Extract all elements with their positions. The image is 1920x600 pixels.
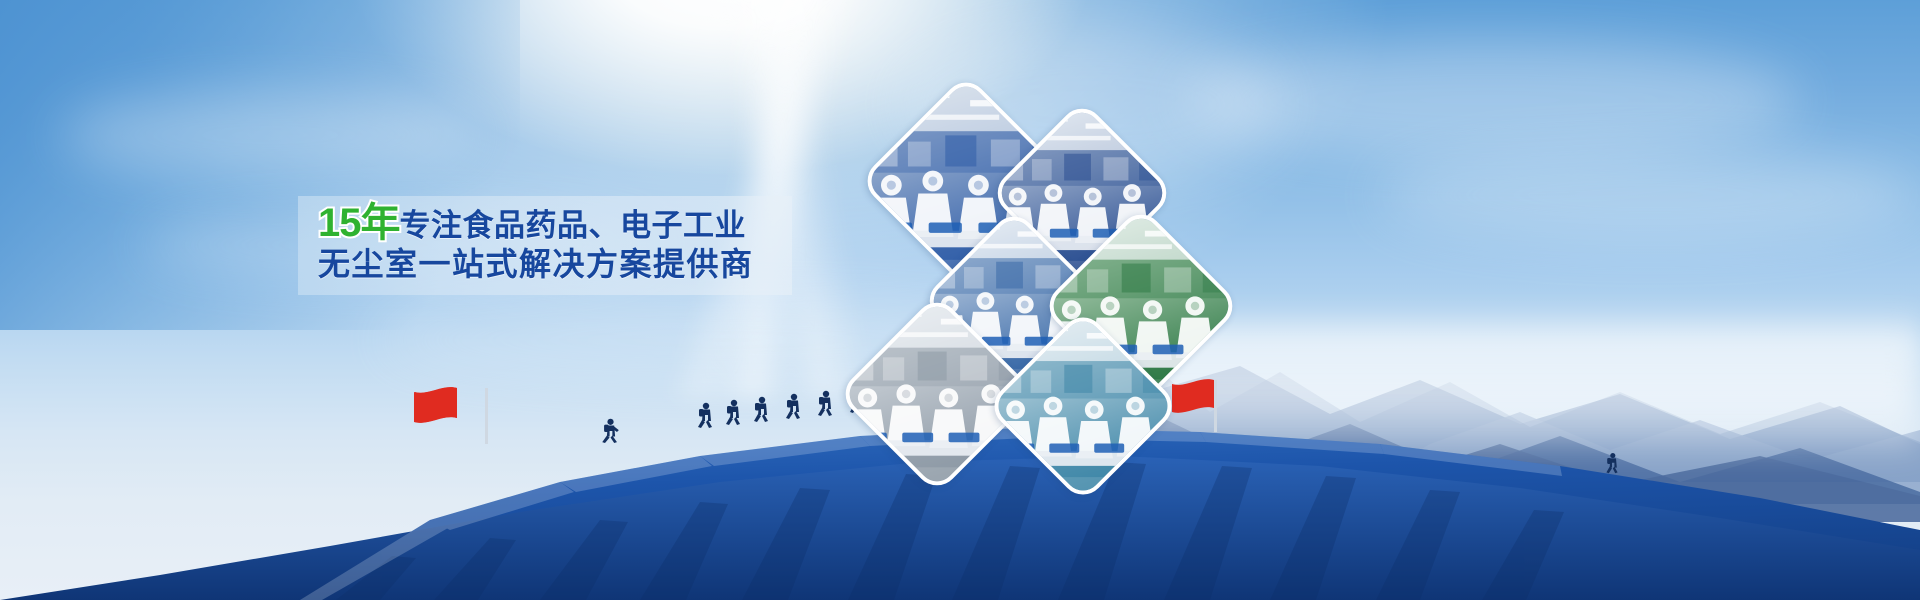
- photo-collage: [830, 85, 1290, 475]
- hero-banner: 15年 15年 专注食品药品、电子工业 无尘室一站式解决方案提供商: [0, 0, 1920, 600]
- cloud: [1380, 150, 1920, 240]
- years-badge: 15年 15年: [318, 203, 400, 252]
- headline-line-1-rest: 专注食品药品、电子工业: [400, 208, 747, 243]
- summit-flag-left: [414, 387, 488, 444]
- headline-line-1: 15年 15年 专注食品药品、电子工业: [318, 203, 788, 244]
- headline: 15年 15年 专注食品药品、电子工业 无尘室一站式解决方案提供商: [318, 203, 788, 285]
- years-text: 15年: [318, 201, 400, 245]
- cloud: [60, 90, 480, 180]
